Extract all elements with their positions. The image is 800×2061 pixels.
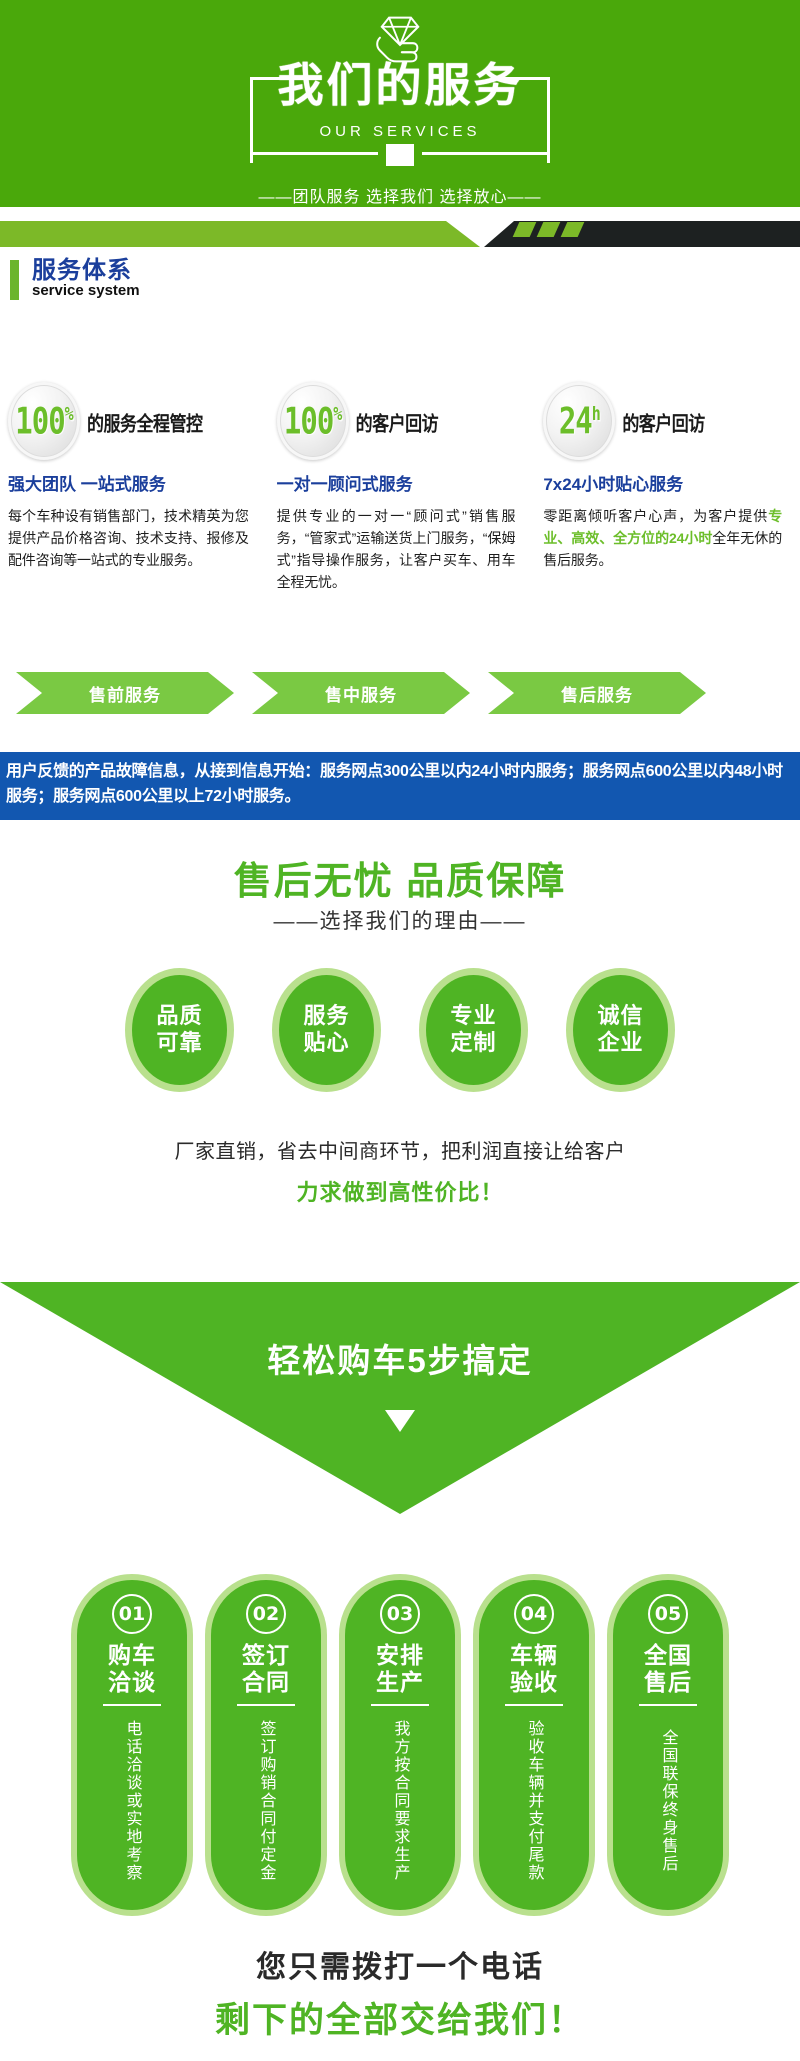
column-heading-1: 强大团队 一站式服务: [8, 470, 249, 495]
reason-circle-4-line2: 企业: [597, 1030, 643, 1057]
step-divider-4: [505, 1704, 563, 1706]
value-ratio-note: 力求做到高性价比！: [0, 1175, 800, 1207]
step-desc-4: 验收车辆并支付尾款: [523, 1716, 544, 1886]
column-body-3: 零距离倾听客户心声，为客户提供专业、高效、全方位的24小时全年无休的售后服务。: [543, 505, 782, 571]
reason-circle-1: 品质 可靠: [132, 975, 227, 1085]
stage-arrow-presale[interactable]: 售前服务: [16, 672, 234, 714]
hero-tagline: ——团队服务 选择我们 选择放心——: [259, 183, 542, 207]
step-name-1: 购车洽谈: [108, 1642, 156, 1696]
step-name-3: 安排生产: [376, 1642, 424, 1696]
badge-row-3: 24h 的客户回访: [543, 378, 782, 464]
reason-circle-2-line1: 服务: [303, 1003, 349, 1030]
step-desc-2: 签订购销合同付定金: [255, 1716, 276, 1886]
reason-circle-3-line2: 定制: [450, 1030, 496, 1057]
reason-circle-2: 服务 贴心: [279, 975, 374, 1085]
step-number-3: 03: [380, 1594, 420, 1634]
section-banner-stripes: [0, 213, 800, 253]
step-number-1: 01: [112, 1594, 152, 1634]
badge-number-3: 24h: [559, 403, 600, 439]
hero-tab-marker: [386, 144, 414, 166]
reasons-subtitle: ——选择我们的理由——: [0, 905, 800, 935]
badge-number-2: 100%: [284, 403, 341, 439]
stat-badge-2: 100%: [277, 382, 349, 460]
service-response-info-bar: 用户反馈的产品故障信息，从接到信息开始：服务网点300公里以内24小时内服务；服…: [0, 752, 800, 820]
column-body-3-highlight-2: 24小时: [669, 530, 712, 546]
stage-arrow-insale[interactable]: 售中服务: [252, 672, 470, 714]
reason-circle-2-line2: 贴心: [303, 1030, 349, 1057]
footer-line-2: 剩下的全部交给我们！: [0, 1992, 800, 2043]
service-column-2: 100% 的客户回访 一对一顾问式服务 提供专业的一对一“顾问式”销售服务，“管…: [267, 378, 516, 593]
section-header-service-system: 服务体系 service system: [10, 258, 140, 300]
reason-circle-3-line1: 专业: [450, 1003, 496, 1030]
purchase-step-5[interactable]: 05 全国售后 全国联保终身售后: [613, 1580, 723, 1910]
purchase-step-3[interactable]: 03 安排生产 我方按合同要求生产: [345, 1580, 455, 1910]
column-heading-3: 7x24小时贴心服务: [543, 470, 782, 495]
reason-circle-4: 诚信 企业: [573, 975, 668, 1085]
down-triangle-icon: [385, 1410, 415, 1432]
reasons-title: 售后无忧 品质保障: [0, 850, 800, 905]
purchase-step-2[interactable]: 02 签订合同 签订购销合同付定金: [211, 1580, 321, 1910]
reason-circles: 品质 可靠 服务 贴心 专业 定制 诚信 企业: [0, 975, 800, 1085]
stage-arrow-aftersale[interactable]: 售后服务: [488, 672, 706, 714]
stat-badge-3: 24h: [543, 382, 615, 460]
badge-label-2: 的客户回访: [356, 406, 439, 436]
hero-title-frame: 我们的服务 OUR SERVICES: [250, 77, 550, 155]
reason-circle-3: 专业 定制: [426, 975, 521, 1085]
reason-circle-1-line2: 可靠: [156, 1030, 202, 1057]
step-desc-5: 全国联保终身售后: [657, 1716, 678, 1886]
badge-row-2: 100% 的客户回访: [277, 378, 516, 464]
service-column-1: 100% 的服务全程管控 强大团队 一站式服务 每个车种设有销售部门，技术精英为…: [0, 378, 249, 593]
column-body-1: 每个车种设有销售部门，技术精英为您提供产品价格咨询、技术支持、报修及配件咨询等一…: [8, 505, 249, 571]
badge-label-3: 的客户回访: [622, 406, 705, 436]
step-divider-1: [103, 1704, 161, 1706]
section-accent-bar: [10, 260, 19, 300]
service-columns: 100% 的服务全程管控 强大团队 一站式服务 每个车种设有销售部门，技术精英为…: [0, 378, 800, 593]
page-title: 我们的服务: [250, 61, 550, 109]
step-divider-2: [237, 1704, 295, 1706]
badge-row-1: 100% 的服务全程管控: [8, 378, 249, 464]
purchase-steps: 01 购车洽谈 电话洽谈或实地考察 02 签订合同 签订购销合同付定金 03 安…: [0, 1580, 800, 1910]
purchase-steps-banner: 轻松购车5步搞定: [0, 1282, 800, 1514]
section-title-cn: 服务体系: [32, 258, 140, 283]
footer-line-1: 您只需拨打一个电话: [0, 1942, 800, 1986]
hero-banner: 我们的服务 OUR SERVICES ——团队服务 选择我们 选择放心——: [0, 0, 800, 207]
badge-number-1: 100%: [15, 403, 72, 439]
service-stage-arrows: 售前服务 售中服务 售后服务: [16, 672, 786, 714]
purchase-step-1[interactable]: 01 购车洽谈 电话洽谈或实地考察: [77, 1580, 187, 1910]
step-name-4: 车辆验收: [510, 1642, 558, 1696]
purchase-step-4[interactable]: 04 车辆验收 验收车辆并支付尾款: [479, 1580, 589, 1910]
column-body-2: 提供专业的一对一“顾问式”销售服务，“管家式”运输送货上门服务，“保姆式”指导操…: [277, 505, 516, 593]
column-heading-2: 一对一顾问式服务: [277, 470, 516, 495]
step-number-5: 05: [648, 1594, 688, 1634]
service-column-3: 24h 的客户回访 7x24小时贴心服务 零距离倾听客户心声，为客户提供专业、高…: [533, 378, 782, 593]
reason-circle-4-line1: 诚信: [597, 1003, 643, 1030]
stat-badge-1: 100%: [8, 382, 80, 460]
step-divider-3: [371, 1704, 429, 1706]
reason-circle-1-line1: 品质: [156, 1003, 202, 1030]
step-number-2: 02: [246, 1594, 286, 1634]
section-title-en: service system: [32, 283, 140, 300]
step-name-2: 签订合同: [242, 1642, 290, 1696]
hero-subtitle: OUR SERVICES: [250, 123, 550, 140]
step-divider-5: [639, 1704, 697, 1706]
step-desc-3: 我方按合同要求生产: [389, 1716, 410, 1886]
step-number-4: 04: [514, 1594, 554, 1634]
banner-green-bar: [0, 221, 480, 247]
step-name-5: 全国售后: [644, 1642, 692, 1696]
step-desc-1: 电话洽谈或实地考察: [121, 1716, 142, 1886]
factory-direct-note: 厂家直销，省去中间商环节，把利润直接让给客户: [0, 1135, 800, 1164]
badge-label-1: 的服务全程管控: [87, 406, 203, 436]
